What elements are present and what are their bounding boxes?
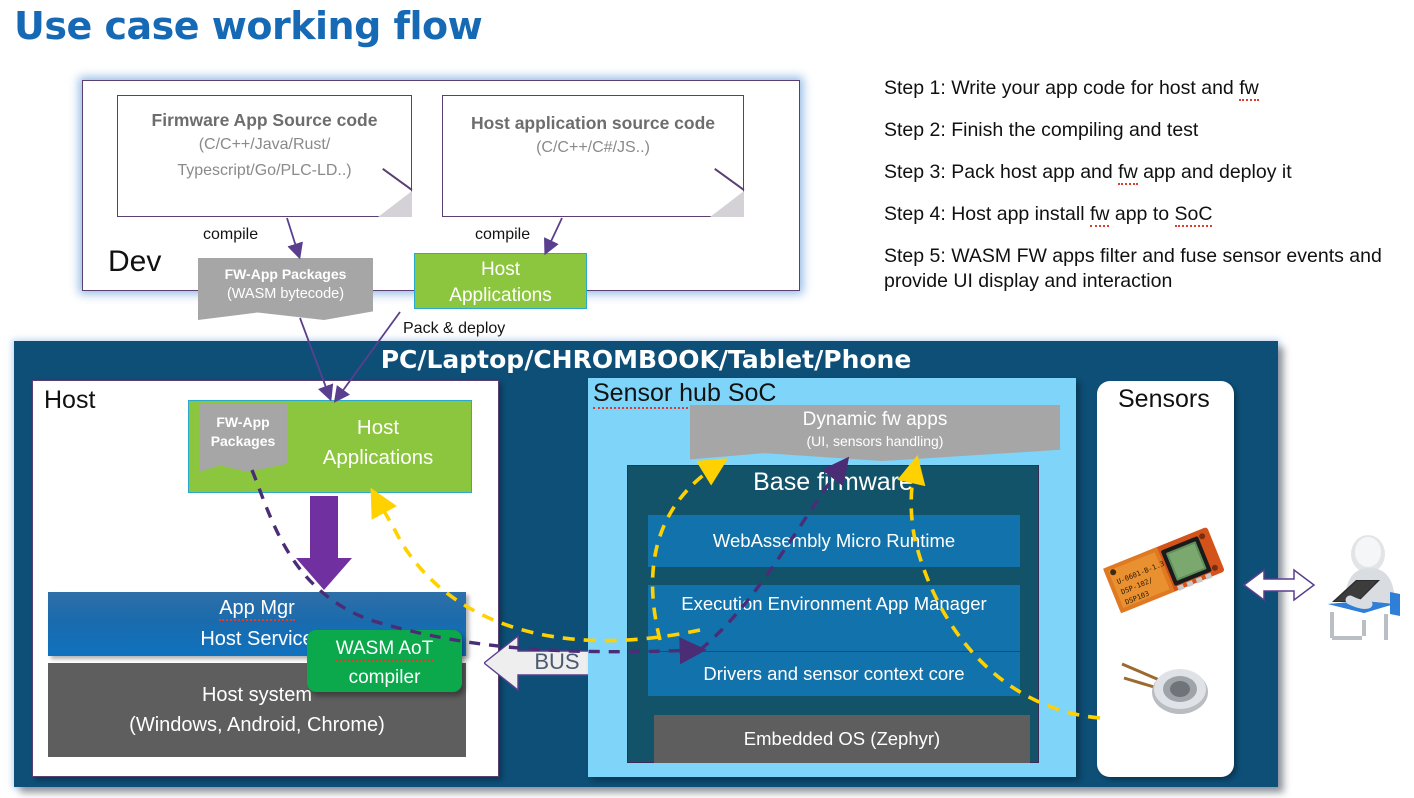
host-label: Host <box>44 386 95 415</box>
aot-text: WASM AoT <box>336 638 433 661</box>
device-panel-title: PC/Laptop/CHROMBOOK/Tablet/Phone <box>14 345 1278 374</box>
page-title: Use case working flow <box>14 4 482 48</box>
compile-label-fw: compile <box>203 226 258 244</box>
page-fold-icon <box>378 191 412 217</box>
fw-package-main-line2: Packages <box>199 432 287 451</box>
page-fold-line-icon <box>714 168 744 190</box>
step-item: Step 1: Write your app code for host and… <box>884 76 1408 101</box>
host-system-line2: (Windows, Android, Chrome) <box>48 710 466 740</box>
firmware-layer-ee-app-manager: Execution Environment App Manager <box>648 585 1020 651</box>
dev-label: Dev <box>108 245 161 279</box>
fw-app-packages-banner-main: FW-App Packages <box>199 404 287 472</box>
step-item: Step 2: Finish the compiling and test <box>884 118 1408 143</box>
host-app-main-labels: Host Applications <box>285 413 471 473</box>
host-app-main-line1: Host <box>285 413 471 443</box>
step-item: Step 5: WASM FW apps filter and fuse sen… <box>884 244 1408 294</box>
fw-source-title: Firmware App Source code <box>118 109 411 131</box>
fw-package-main-labels: FW-App Packages <box>199 413 287 451</box>
fw-package-main-line1: FW-App <box>199 413 287 432</box>
soc-label: Sensor hub SoC <box>593 379 776 408</box>
firmware-layer-wamr: WebAssembly Micro Runtime <box>648 515 1020 567</box>
fw-source-line1: (C/C++/Java/Rust/ <box>118 133 411 157</box>
fw-package-line2: (WASM bytecode) <box>227 286 344 302</box>
dynamic-fw-apps-banner: Dynamic fw apps (UI, sensors handling) <box>690 405 1060 461</box>
wasm-aot-compiler-box: WASM AoT compiler <box>307 630 462 692</box>
firmware-layer-drivers: Drivers and sensor context core <box>648 652 1020 696</box>
pack-deploy-label: Pack & deploy <box>403 320 505 338</box>
image-sensor-board-icon: U-0601-B-1.3 DSP-102/ DSP103 <box>1102 520 1226 620</box>
firmware-app-source-code-box: Firmware App Source code (C/C++/Java/Rus… <box>117 95 412 217</box>
fw-package-line1: FW-App Packages <box>198 265 373 284</box>
dynamic-fw-apps-line2: (UI, sensors handling) <box>690 433 1060 449</box>
app-mgr-text: App Mgr <box>219 597 295 621</box>
host-app-dev-line1: Host <box>415 257 586 283</box>
fw-source-line2: Typescript/Go/PLC-LD..) <box>118 159 411 183</box>
host-application-source-code-box: Host application source code (C/C++/C#/J… <box>442 95 744 217</box>
sensors-label: Sensors <box>1118 385 1210 414</box>
step-item: Step 3: Pack host app and fw app and dep… <box>884 160 1408 185</box>
page-fold-icon <box>710 191 744 217</box>
host-app-main-line2: Applications <box>285 443 471 473</box>
aot-line1: WASM AoT <box>307 634 462 663</box>
dynamic-fw-apps-line1: Dynamic fw apps <box>690 409 1060 431</box>
fw-app-packages-banner-dev: FW-App Packages (WASM bytecode) <box>198 258 373 320</box>
steps-list: Step 1: Write your app code for host and… <box>884 76 1408 311</box>
fw-package-labels: FW-App Packages (WASM bytecode) <box>198 265 373 304</box>
firmware-layer-embedded-os: Embedded OS (Zephyr) <box>654 715 1030 763</box>
aot-line2: compiler <box>307 663 462 692</box>
host-source-line1: (C/C++/C#/JS..) <box>443 136 743 160</box>
app-mgr-line1: App Mgr <box>48 593 466 624</box>
user-with-laptop-icon <box>1302 530 1410 642</box>
host-app-dev-line2: Applications <box>415 283 586 309</box>
step-item: Step 4: Host app install fw app to SoC <box>884 202 1408 227</box>
base-firmware-title: Base firmware <box>627 468 1039 497</box>
to-can-sensor-icon <box>1118 652 1218 722</box>
compile-label-host: compile <box>475 226 530 244</box>
host-applications-box-dev: Host Applications <box>414 253 587 309</box>
host-source-title: Host application source code <box>443 112 743 134</box>
